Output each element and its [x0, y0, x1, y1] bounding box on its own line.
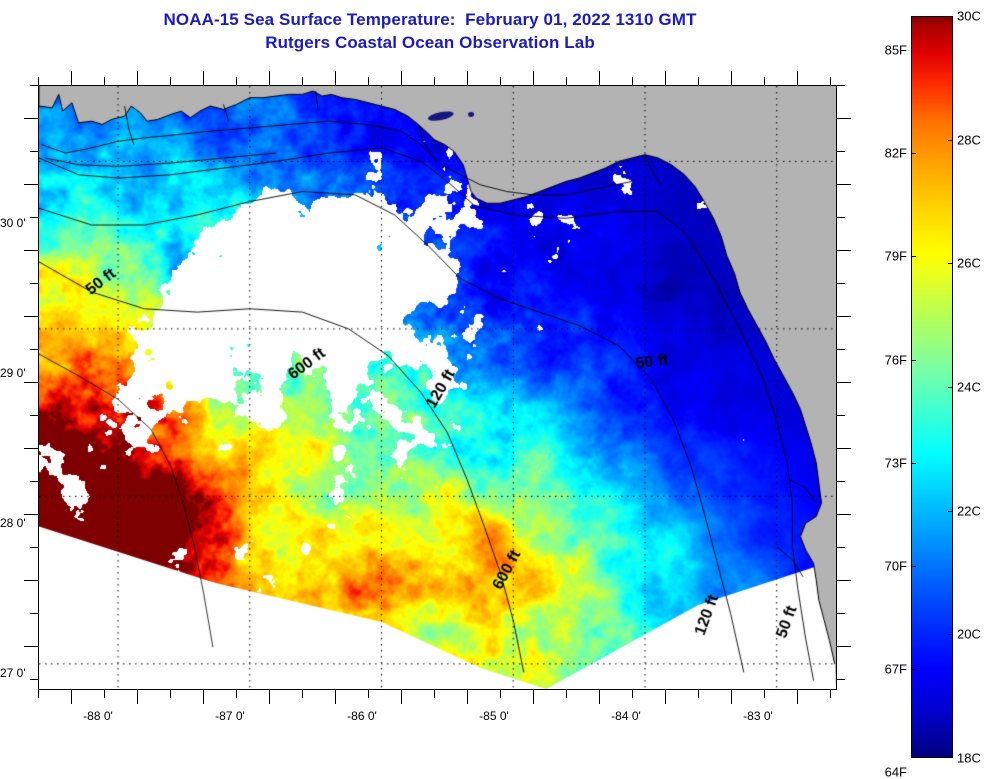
x-axis-tick — [38, 77, 39, 85]
x-axis-tick — [467, 71, 468, 85]
y-axis-tick — [837, 646, 851, 647]
colorbar-tick — [911, 153, 916, 154]
x-axis-tick — [500, 77, 501, 85]
y-axis-tick — [24, 448, 38, 449]
x-axis-tick — [632, 690, 633, 698]
x-axis-tick — [38, 690, 39, 698]
colorbar-fahrenheit-label: 82F — [885, 146, 907, 161]
x-axis-tick — [632, 77, 633, 85]
x-axis-tick — [665, 71, 666, 85]
colorbar-tick — [948, 511, 953, 512]
x-axis-tick — [434, 690, 435, 698]
y-axis-tick — [30, 481, 38, 482]
y-axis-tick — [837, 349, 845, 350]
y-axis-tick — [837, 580, 851, 581]
x-axis-tick — [269, 71, 270, 85]
title-line-1: NOAA-15 Sea Surface Temperature: Februar… — [0, 8, 860, 31]
x-axis-tick — [797, 690, 798, 704]
y-axis-tick — [30, 85, 38, 86]
x-axis-tick — [830, 690, 831, 698]
x-axis-label: -85 0' — [479, 709, 509, 723]
x-axis-label: -83 0' — [743, 709, 773, 723]
x-axis-tick — [665, 690, 666, 704]
colorbar-celsius-label: 26C — [957, 256, 981, 271]
x-axis-tick — [170, 690, 171, 698]
y-axis-tick — [30, 349, 38, 350]
colorbar-tick — [948, 634, 953, 635]
x-axis-tick — [533, 690, 534, 704]
y-axis-tick — [837, 85, 845, 86]
colorbar-fahrenheit-label: 67F — [885, 661, 907, 676]
colorbar-celsius-label: 28C — [957, 132, 981, 147]
x-axis-tick — [434, 77, 435, 85]
x-axis-tick — [302, 77, 303, 85]
x-axis-tick — [236, 77, 237, 85]
x-axis-tick — [368, 690, 369, 698]
x-axis-tick — [170, 77, 171, 85]
y-axis-tick — [30, 547, 38, 548]
x-axis-label: -88 0' — [83, 709, 113, 723]
x-axis-tick — [335, 690, 336, 704]
x-axis-tick — [401, 71, 402, 85]
y-axis-label: 30 0' — [0, 216, 21, 230]
x-axis-tick — [302, 690, 303, 698]
y-axis-label: 29 0' — [0, 366, 21, 380]
y-axis-label: 27 0' — [0, 666, 21, 680]
x-axis-label: -87 0' — [215, 709, 245, 723]
y-axis-tick — [24, 118, 38, 119]
x-axis-tick — [731, 71, 732, 85]
title-line-2: Rutgers Coastal Ocean Observation Lab — [0, 31, 860, 54]
colorbar-tick — [911, 566, 916, 567]
x-axis-tick — [566, 690, 567, 698]
colorbar-tick — [911, 256, 916, 257]
sst-map-plot[interactable] — [38, 85, 837, 690]
colorbar-fahrenheit-label: 64F — [885, 764, 907, 779]
y-axis-tick — [837, 448, 851, 449]
y-axis-tick — [24, 184, 38, 185]
colorbar-tick — [948, 263, 953, 264]
y-axis-tick — [24, 646, 38, 647]
y-axis-tick — [837, 151, 845, 152]
chart-title: NOAA-15 Sea Surface Temperature: Februar… — [0, 8, 860, 54]
colorbar-celsius-label: 22C — [957, 503, 981, 518]
x-axis-tick — [104, 77, 105, 85]
x-axis-tick — [500, 690, 501, 698]
colorbar-legend: 85F82F79F76F73F70F67F64F30C28C26C24C22C2… — [911, 16, 953, 758]
colorbar-fahrenheit-label: 85F — [885, 43, 907, 58]
y-axis-tick — [837, 547, 845, 548]
colorbar-fahrenheit-label: 73F — [885, 455, 907, 470]
x-axis-tick — [137, 690, 138, 704]
x-axis-tick — [830, 77, 831, 85]
y-axis-tick — [837, 184, 851, 185]
x-axis-tick — [797, 71, 798, 85]
x-axis-tick — [71, 71, 72, 85]
x-axis-tick — [401, 690, 402, 704]
x-axis-tick — [566, 77, 567, 85]
y-axis-tick — [837, 613, 845, 614]
x-axis-tick — [764, 77, 765, 85]
y-axis-label: 28 0' — [0, 516, 21, 530]
x-axis-tick — [599, 71, 600, 85]
y-axis-tick — [24, 580, 38, 581]
colorbar-tick — [948, 140, 953, 141]
y-axis-tick — [30, 283, 38, 284]
colorbar-fahrenheit-label: 79F — [885, 249, 907, 264]
x-axis-tick — [467, 690, 468, 704]
colorbar-tick — [911, 463, 916, 464]
colorbar-celsius-label: 20C — [957, 627, 981, 642]
y-axis-tick — [837, 514, 851, 515]
y-axis-tick — [837, 481, 845, 482]
x-axis-tick — [104, 690, 105, 698]
x-axis-tick — [599, 690, 600, 704]
y-axis-tick — [24, 514, 38, 515]
y-axis-tick — [837, 217, 845, 218]
y-axis-tick — [837, 283, 845, 284]
x-axis-tick — [533, 71, 534, 85]
colorbar-celsius-label: 24C — [957, 380, 981, 395]
colorbar-tick — [948, 387, 953, 388]
colorbar-fahrenheit-label: 76F — [885, 352, 907, 367]
x-axis-tick — [368, 77, 369, 85]
y-axis-tick — [30, 613, 38, 614]
y-axis-tick — [837, 382, 851, 383]
x-axis-tick — [698, 690, 699, 698]
y-axis-tick — [837, 415, 845, 416]
x-axis-tick — [71, 690, 72, 704]
colorbar-tick — [911, 360, 916, 361]
y-axis-tick — [837, 316, 851, 317]
x-axis-tick — [764, 690, 765, 698]
x-axis-label: -84 0' — [611, 709, 641, 723]
y-axis-tick — [24, 382, 38, 383]
colorbar-gradient — [911, 16, 953, 758]
x-axis-tick — [236, 690, 237, 698]
x-axis-tick — [203, 690, 204, 704]
y-axis-tick — [30, 151, 38, 152]
colorbar-celsius-label: 30C — [957, 9, 981, 24]
y-axis-tick — [837, 118, 851, 119]
y-axis-tick — [24, 316, 38, 317]
x-axis-tick — [335, 71, 336, 85]
x-axis-label: -86 0' — [347, 709, 377, 723]
y-axis-tick — [837, 250, 851, 251]
colorbar-celsius-label: 18C — [957, 751, 981, 766]
colorbar-tick — [911, 669, 916, 670]
y-axis-tick — [30, 415, 38, 416]
y-axis-tick — [30, 679, 38, 680]
x-axis-tick — [137, 71, 138, 85]
y-axis-tick — [837, 679, 845, 680]
colorbar-fahrenheit-label: 70F — [885, 558, 907, 573]
x-axis-tick — [731, 690, 732, 704]
x-axis-tick — [698, 77, 699, 85]
y-axis-tick — [30, 217, 38, 218]
x-axis-tick — [203, 71, 204, 85]
y-axis-tick — [24, 250, 38, 251]
sst-heatmap-canvas[interactable] — [39, 86, 836, 689]
x-axis-tick — [269, 690, 270, 704]
